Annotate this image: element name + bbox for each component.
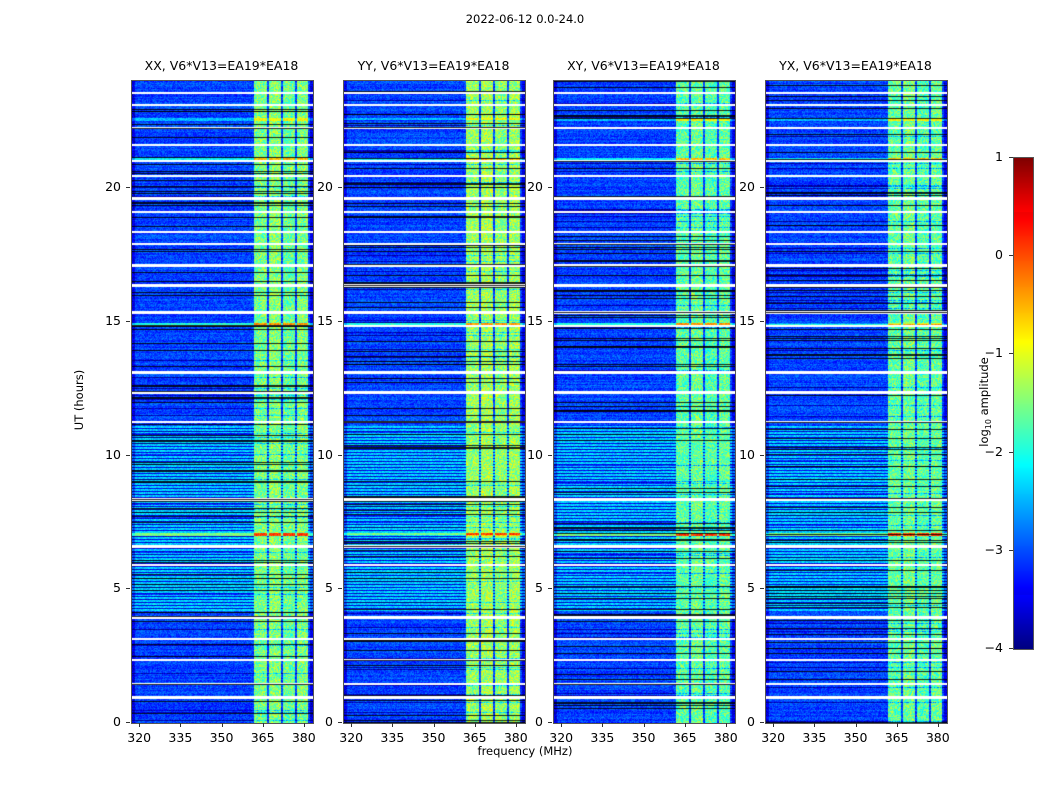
- y-tick-label: 5: [725, 580, 755, 595]
- y-tick-mark: [338, 321, 342, 322]
- x-tick-label: 335: [794, 730, 834, 745]
- y-tick-mark: [126, 455, 130, 456]
- x-tick-label: 350: [836, 730, 876, 745]
- y-tick-label: 10: [725, 447, 755, 462]
- y-tick-mark: [126, 187, 130, 188]
- y-tick-mark: [548, 187, 552, 188]
- x-tick-mark: [856, 723, 857, 727]
- x-tick-label: 380: [284, 730, 324, 745]
- y-tick-label: 0: [303, 714, 333, 729]
- x-tick-mark: [897, 723, 898, 727]
- y-tick-label: 10: [303, 447, 333, 462]
- y-tick-mark: [760, 187, 764, 188]
- y-tick-label: 15: [303, 313, 333, 328]
- x-tick-label: 320: [753, 730, 793, 745]
- figure-suptitle: 2022-06-12 0.0-24.0: [0, 12, 1050, 26]
- y-tick-label: 20: [513, 179, 543, 194]
- waterfall-panel-xy[interactable]: [553, 80, 736, 724]
- x-tick-label: 335: [372, 730, 412, 745]
- y-tick-mark: [760, 588, 764, 589]
- y-tick-mark: [126, 321, 130, 322]
- y-tick-mark: [548, 722, 552, 723]
- x-tick-label: 365: [455, 730, 495, 745]
- x-tick-mark: [773, 723, 774, 727]
- y-tick-mark: [338, 187, 342, 188]
- y-tick-label: 15: [91, 313, 121, 328]
- y-tick-mark: [338, 455, 342, 456]
- y-tick-label: 5: [91, 580, 121, 595]
- x-tick-label: 320: [331, 730, 371, 745]
- y-tick-mark: [338, 722, 342, 723]
- y-tick-label: 10: [513, 447, 543, 462]
- colorbar-tick-label: −4: [977, 640, 1003, 655]
- x-tick-label: 365: [243, 730, 283, 745]
- x-tick-mark: [434, 723, 435, 727]
- colorbar-tick-label: −1: [977, 345, 1003, 360]
- y-tick-label: 5: [513, 580, 543, 595]
- y-tick-mark: [548, 455, 552, 456]
- x-tick-label: 380: [918, 730, 958, 745]
- y-tick-label: 5: [303, 580, 333, 595]
- y-tick-mark: [760, 321, 764, 322]
- y-tick-label: 20: [91, 179, 121, 194]
- y-tick-label: 15: [725, 313, 755, 328]
- colorbar-label: log10 amplitude: [977, 357, 993, 447]
- x-tick-mark: [392, 723, 393, 727]
- colorbar-tick-label: −2: [977, 444, 1003, 459]
- waterfall-panel-xx[interactable]: [131, 80, 314, 724]
- colorbar-tick-mark: [1009, 353, 1013, 354]
- x-tick-label: 320: [119, 730, 159, 745]
- x-tick-label: 365: [665, 730, 705, 745]
- y-tick-label: 0: [513, 714, 543, 729]
- y-tick-mark: [338, 588, 342, 589]
- x-tick-mark: [644, 723, 645, 727]
- x-tick-mark: [561, 723, 562, 727]
- x-tick-label: 365: [877, 730, 917, 745]
- x-tick-label: 335: [582, 730, 622, 745]
- y-tick-mark: [760, 455, 764, 456]
- x-tick-label: 335: [160, 730, 200, 745]
- colorbar-tick-label: −3: [977, 542, 1003, 557]
- x-tick-mark: [602, 723, 603, 727]
- colorbar-tick-mark: [1009, 550, 1013, 551]
- colorbar-tick-mark: [1009, 452, 1013, 453]
- colorbar-tick-label: 1: [977, 149, 1003, 164]
- y-tick-label: 0: [725, 714, 755, 729]
- colorbar-tick-mark: [1009, 648, 1013, 649]
- y-tick-mark: [126, 588, 130, 589]
- x-tick-mark: [351, 723, 352, 727]
- y-tick-label: 10: [91, 447, 121, 462]
- x-tick-label: 380: [706, 730, 746, 745]
- colorbar-tick-mark: [1009, 157, 1013, 158]
- x-tick-label: 320: [541, 730, 581, 745]
- y-tick-label: 20: [725, 179, 755, 194]
- x-tick-label: 380: [496, 730, 536, 745]
- x-axis-label: frequency (MHz): [0, 744, 1050, 758]
- y-tick-mark: [548, 588, 552, 589]
- x-tick-mark: [938, 723, 939, 727]
- y-tick-label: 0: [91, 714, 121, 729]
- x-tick-mark: [685, 723, 686, 727]
- x-tick-label: 350: [202, 730, 242, 745]
- y-tick-mark: [126, 722, 130, 723]
- x-tick-mark: [222, 723, 223, 727]
- y-tick-label: 15: [513, 313, 543, 328]
- waterfall-panel-yx[interactable]: [765, 80, 948, 724]
- x-tick-label: 350: [414, 730, 454, 745]
- y-tick-mark: [760, 722, 764, 723]
- x-tick-mark: [263, 723, 264, 727]
- colorbar-tick-mark: [1009, 255, 1013, 256]
- y-tick-mark: [548, 321, 552, 322]
- colorbar-tick-label: 0: [977, 247, 1003, 262]
- x-tick-mark: [180, 723, 181, 727]
- x-tick-mark: [139, 723, 140, 727]
- x-tick-mark: [475, 723, 476, 727]
- x-tick-label: 350: [624, 730, 664, 745]
- waterfall-panel-yy[interactable]: [343, 80, 526, 724]
- y-axis-label: UT (hours): [72, 370, 86, 430]
- colorbar[interactable]: [1013, 157, 1034, 650]
- x-tick-mark: [814, 723, 815, 727]
- y-tick-label: 20: [303, 179, 333, 194]
- panel-title-yx: YX, V6*V13=EA19*EA18: [705, 58, 1006, 73]
